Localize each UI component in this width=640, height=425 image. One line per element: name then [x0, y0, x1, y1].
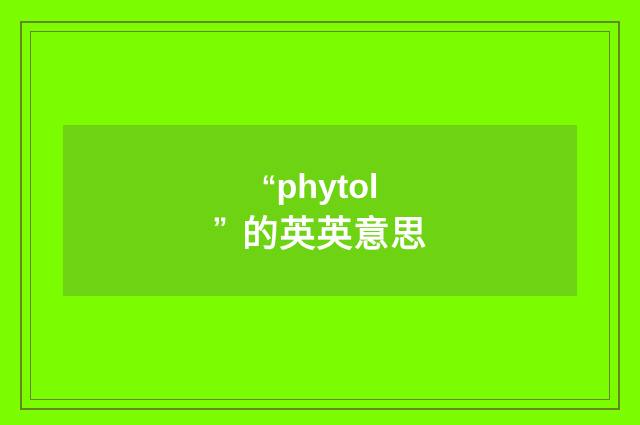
closing-quote-mark: ” — [212, 212, 228, 245]
title-line-secondary: ”的英英意思 — [212, 216, 427, 252]
title-line-primary: “phytol — [212, 170, 427, 204]
card-canvas: “phytol ”的英英意思 — [0, 0, 640, 425]
content-panel: “phytol ”的英英意思 — [63, 125, 577, 296]
subtitle-label: 的英英意思 — [242, 213, 427, 254]
term-label: phytol — [277, 168, 379, 206]
title-block: “phytol ”的英英意思 — [212, 170, 427, 252]
opening-quote-mark: “ — [262, 170, 277, 203]
